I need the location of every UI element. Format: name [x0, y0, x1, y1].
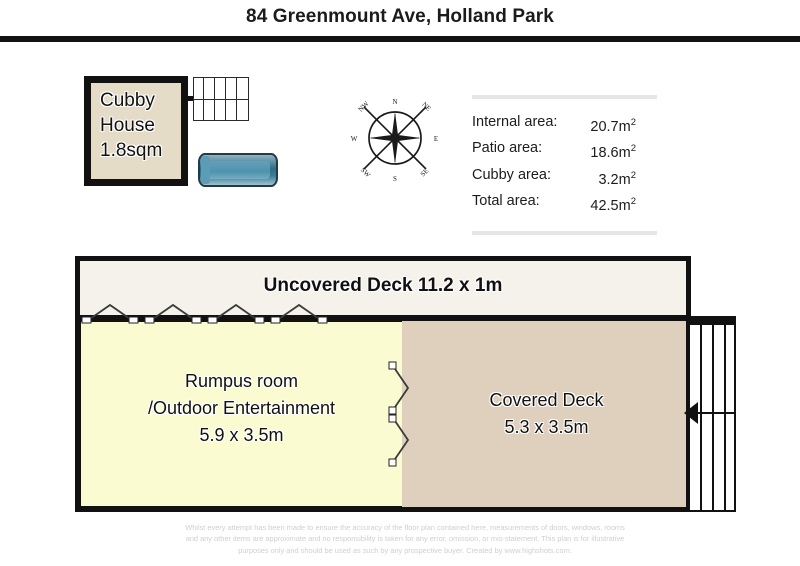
floorplan-drawing: Uncovered Deck 11.2 x 1m Rumpus room /Ou… [0, 0, 800, 566]
disclaimer-line3: purposes only and should be used as such… [110, 545, 700, 556]
bifold-doors-top-icon [75, 300, 415, 324]
rumpus-room-label: Rumpus room /Outdoor Entertainment 5.9 x… [75, 368, 408, 449]
rumpus-label-line1: Rumpus room [75, 368, 408, 395]
floorplan-page: 84 Greenmount Ave, Holland Park Cubby Ho… [0, 0, 800, 566]
rumpus-label-line3: 5.9 x 3.5m [75, 422, 408, 449]
covered-label-line1: Covered Deck [402, 387, 691, 414]
disclaimer-text: Whilst every attempt has been made to en… [110, 522, 700, 556]
disclaimer-line2: and any other items are approximate and … [110, 533, 700, 544]
bifold-doors-right-icon [388, 360, 414, 468]
disclaimer-line1: Whilst every attempt has been made to en… [110, 522, 700, 533]
stairs-direction-arrow-icon [684, 402, 698, 424]
covered-deck-label: Covered Deck 5.3 x 3.5m [402, 387, 691, 441]
rumpus-label-line2: /Outdoor Entertainment [75, 395, 408, 422]
covered-label-line2: 5.3 x 3.5m [402, 414, 691, 441]
uncovered-deck-label: Uncovered Deck 11.2 x 1m [75, 275, 691, 297]
